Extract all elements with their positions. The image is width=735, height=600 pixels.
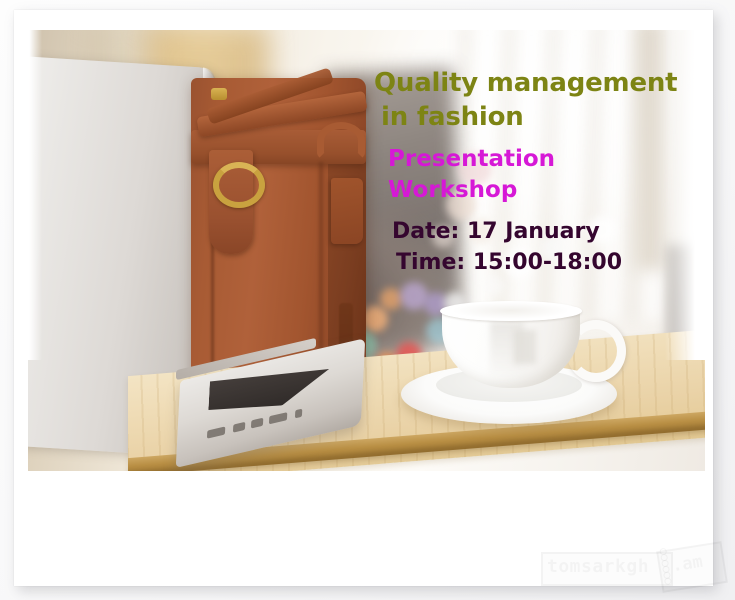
photo-left-highlight [28, 30, 42, 360]
poster-subtitle-line-2: Workshop [374, 175, 704, 206]
laptop-port [295, 409, 302, 419]
watermark-perf-dot [660, 554, 668, 562]
watermark-plate [541, 552, 673, 586]
poster-title-line-2: in fashion [374, 100, 704, 134]
watermark-perforation [659, 548, 671, 584]
laptop-port [269, 412, 287, 424]
bag-handle-loop [317, 122, 365, 160]
watermark-ticket-shape [656, 541, 728, 593]
poster-title-line-1: Quality management [374, 66, 704, 100]
cup-rim [440, 301, 582, 321]
watermark-perf-dot [661, 559, 669, 567]
watermark-perf-dot [659, 548, 667, 556]
poster-time-line: Time: 15:00-18:00 [374, 247, 704, 278]
cup-reflection-secondary [514, 330, 536, 364]
bokeh-light [380, 288, 402, 310]
laptop-port [207, 426, 225, 438]
watermark-perf-dot [663, 571, 671, 579]
poster-date-line: Date: 17 January [374, 216, 704, 247]
laptop-port [233, 422, 245, 433]
poster-subtitle-line-1: Presentation [374, 144, 704, 175]
watermark-suffix: .am [671, 552, 704, 577]
bokeh-light [484, 276, 504, 296]
laptop-port [251, 418, 263, 429]
photo-image: Quality management in fashion Presentati… [28, 30, 705, 471]
poster-root: Quality management in fashion Presentati… [0, 0, 735, 600]
leather-bag [191, 78, 366, 383]
watermark: tomsarkgh .am [541, 548, 716, 588]
watermark-perf-dot [662, 565, 670, 573]
watermark-text: tomsarkgh [547, 556, 649, 577]
watermark-perf-dot [664, 577, 672, 585]
bag-buckle-icon [213, 162, 265, 208]
photo-card: Quality management in fashion Presentati… [14, 10, 713, 586]
bag-side-pocket [331, 178, 363, 244]
poster-text-block: Quality management in fashion Presentati… [374, 66, 704, 278]
bag-gold-clip [211, 88, 227, 100]
